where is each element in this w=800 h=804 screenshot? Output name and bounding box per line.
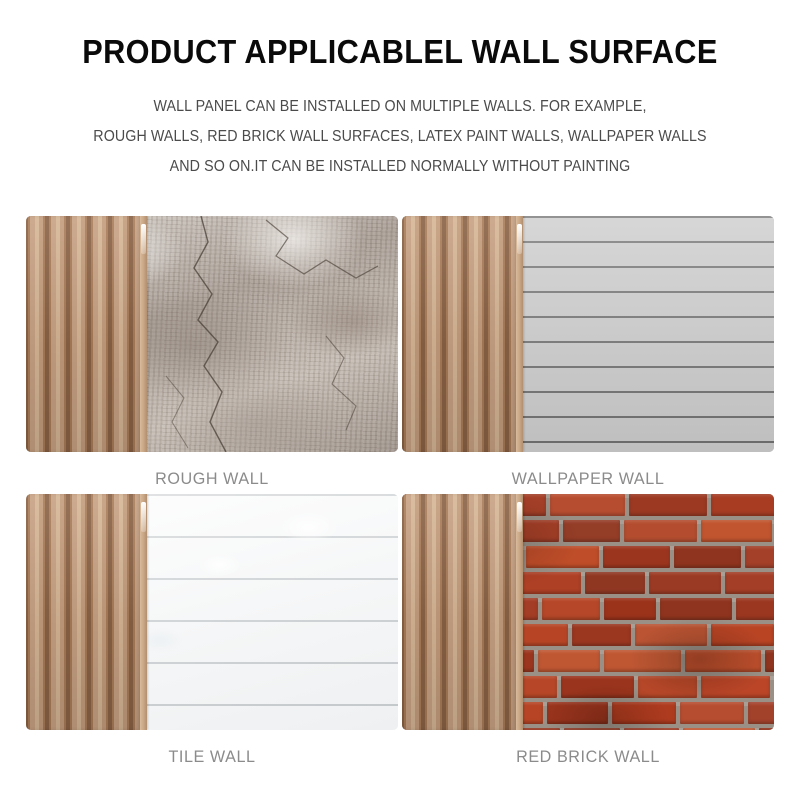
brick (564, 728, 620, 730)
brick (674, 546, 741, 568)
subtitle-line-3: AND SO ON.IT CAN BE INSTALLED NORMALLY W… (32, 152, 768, 182)
brick (711, 494, 774, 516)
brick (635, 624, 707, 646)
brick (649, 572, 721, 594)
brick (547, 702, 608, 724)
brick (624, 728, 679, 730)
brick (765, 650, 774, 672)
brick (748, 702, 774, 724)
panel-caption: WALLPAPER WALL (411, 469, 764, 489)
scene-red-brick-wall (402, 494, 774, 730)
brick (701, 676, 770, 698)
brick (683, 728, 755, 730)
panel-wallpaper-wall[interactable]: WALLPAPER WALL (402, 216, 774, 489)
brick (629, 494, 707, 516)
panel-caption: ROUGH WALL (35, 469, 388, 489)
brick (701, 520, 772, 542)
brick (638, 676, 697, 698)
brick (685, 650, 761, 672)
scene-wallpaper-wall (402, 216, 774, 452)
panel-grid: ROUGH WALL WALLPAPER WALL TILE WALL (0, 216, 800, 786)
brick (759, 728, 774, 730)
brick (612, 702, 676, 724)
page-title: PRODUCT APPLICABLEL WALL SURFACE (28, 34, 772, 70)
scene-rough-wall (26, 216, 398, 452)
wood-slat-panel (26, 216, 140, 452)
header: PRODUCT APPLICABLEL WALL SURFACE WALL PA… (0, 0, 800, 182)
panel-edge-highlight (141, 224, 146, 254)
brick (604, 598, 656, 620)
brick (514, 572, 581, 594)
panel-red-brick-wall[interactable]: RED BRICK WALL (402, 494, 774, 767)
panel-rough-wall[interactable]: ROUGH WALL (26, 216, 398, 489)
brick (561, 676, 634, 698)
brick (538, 650, 600, 672)
panel-caption: TILE WALL (35, 747, 388, 767)
wood-slat-panel (402, 216, 516, 452)
wood-slat-panel (26, 494, 140, 730)
brick (542, 598, 600, 620)
brick (736, 598, 774, 620)
brick (604, 650, 681, 672)
brick (550, 494, 625, 516)
brick (660, 598, 732, 620)
brick (603, 546, 670, 568)
panel-tile-wall[interactable]: TILE WALL (26, 494, 398, 767)
scene-tile-wall (26, 494, 398, 730)
brick (624, 520, 697, 542)
brick (725, 572, 774, 594)
subtitle-block: WALL PANEL CAN BE INSTALLED ON MULTIPLE … (0, 92, 800, 182)
panel-edge-highlight (517, 224, 522, 254)
brick (563, 520, 620, 542)
wood-slat-panel (402, 494, 516, 730)
panel-edge-highlight (141, 502, 146, 532)
brick (680, 702, 744, 724)
brick (585, 572, 645, 594)
panel-edge-highlight (517, 502, 522, 532)
panel-caption: RED BRICK WALL (411, 747, 764, 767)
brick (745, 546, 774, 568)
subtitle-line-1: WALL PANEL CAN BE INSTALLED ON MULTIPLE … (32, 92, 768, 122)
brick (572, 624, 631, 646)
brick (526, 546, 599, 568)
subtitle-line-2: ROUGH WALLS, RED BRICK WALL SURFACES, LA… (32, 122, 768, 152)
brick (711, 624, 774, 646)
